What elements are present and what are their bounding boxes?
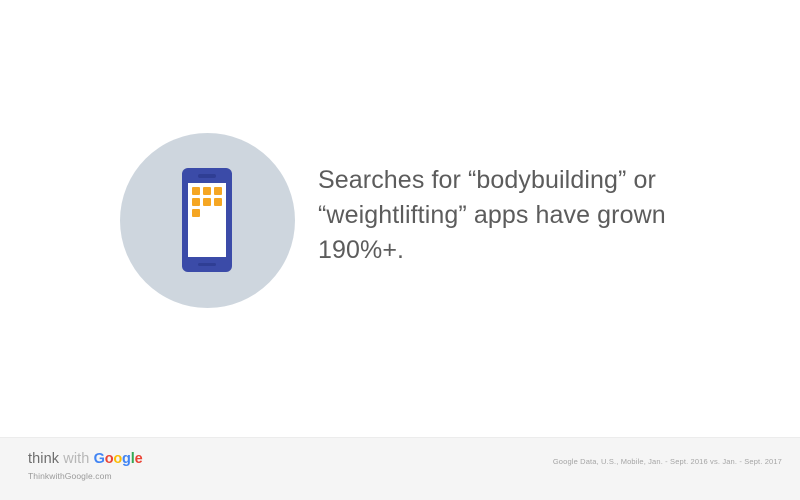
slide-footer: think with Google ThinkwithGoogle.com Go… — [0, 437, 800, 500]
slide-canvas: Searches for “bodybuilding” or “weightli… — [0, 0, 800, 500]
app-tile-icon — [214, 187, 222, 195]
phone-home-button-icon — [198, 263, 216, 267]
app-tile-icon — [192, 187, 200, 195]
icon-medallion — [120, 133, 295, 308]
google-letter-2: o — [113, 451, 122, 467]
google-letter-3: g — [122, 451, 131, 467]
app-tile-icon — [192, 209, 200, 217]
brand-block: think with Google ThinkwithGoogle.com — [28, 451, 142, 481]
app-tile-placeholder — [203, 209, 211, 217]
app-tile-placeholder — [214, 209, 222, 217]
think-with-google-logo: think with Google — [28, 451, 142, 468]
app-tile-icon — [203, 198, 211, 206]
app-tile-icon — [214, 198, 222, 206]
headline-statement: Searches for “bodybuilding” or “weightli… — [318, 163, 738, 268]
brand-word-with: with — [63, 451, 89, 467]
phone-body — [182, 168, 232, 272]
slide-content: Searches for “bodybuilding” or “weightli… — [0, 0, 800, 437]
brand-url-label: ThinkwithGoogle.com — [28, 471, 142, 481]
google-letter-5: e — [135, 451, 143, 467]
app-tile-icon — [192, 198, 200, 206]
mobile-phone-apps-icon — [182, 168, 232, 272]
app-tile-icon — [203, 187, 211, 195]
brand-word-think: think — [28, 451, 59, 467]
data-source-attribution: Google Data, U.S., Mobile, Jan. - Sept. … — [553, 457, 782, 466]
phone-screen — [188, 183, 226, 257]
phone-speaker-icon — [198, 174, 216, 178]
google-wordmark: Google — [94, 451, 143, 467]
app-icon-grid — [192, 187, 226, 217]
google-letter-0: G — [94, 451, 105, 467]
